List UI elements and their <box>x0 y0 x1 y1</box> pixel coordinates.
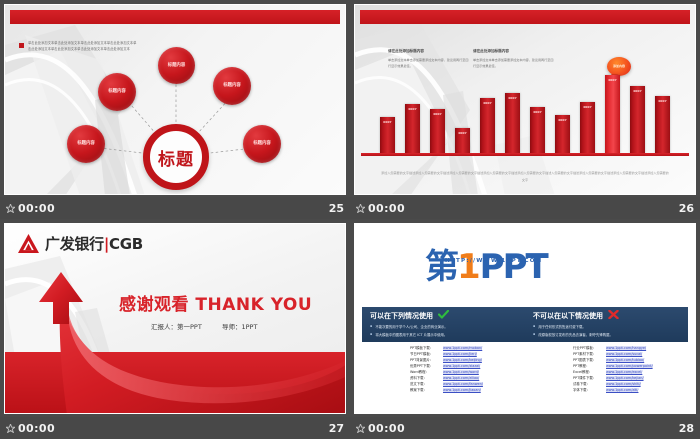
usage-terms-band: 可以在下列情况使用 ▪ 不能次要的用于学个人/公司、企业的商业演示。 ▪ <box>362 307 688 342</box>
forbidden-item-2: ▪ 改原版权放订发布的先品去演者，剥夺先锋购屋。 <box>533 332 680 337</box>
bar-7-label: 0007 <box>533 110 541 114</box>
thank-you-en: THANK YOU <box>195 295 312 315</box>
callout-bubble-label: 添加内容 <box>613 65 625 68</box>
node-lower-left[interactable]: 标题内容 <box>67 125 105 163</box>
slide-thumbnail-grid: 单击此处添加文本单击此处添加文本单击此处添加文本单击此处添加文本单击此处添加文本… <box>0 0 700 439</box>
bar-9: 0007 <box>580 102 596 154</box>
bar-3: 0007 <box>430 109 446 154</box>
link-label-right-5: Excel教程： <box>573 369 603 374</box>
timer-text-27: 00:00 <box>18 422 55 435</box>
forbidden-title-row: 不可以在以下情况使用 <box>533 310 680 321</box>
column-2-body: 单击添加文本单击添加需要添加文本内容，建议用两行至四行显示效果最佳。 <box>473 57 555 70</box>
cross-icon <box>608 310 619 321</box>
list-marker-icon: ▪ <box>533 324 535 329</box>
link-url-right-8[interactable]: www.1ppt.com/ziti/ <box>606 388 638 392</box>
bar-4: 0007 <box>455 128 471 154</box>
bar-11: 0007 <box>630 86 646 154</box>
bar-2: 0007 <box>405 104 421 154</box>
footer-left-25: 00:00 <box>6 202 55 215</box>
timer-icon <box>356 424 365 433</box>
slide-28[interactable]: 第1PPT HTTP://WWW.1PPT.COM 可以在下列情况使用 ▪ <box>354 223 696 414</box>
timer-text-28: 00:00 <box>368 422 405 435</box>
allowed-item-2-text: 将大模板中的图表用于其它 ICT 片展示中使用。 <box>375 332 447 337</box>
link-row-left-5[interactable]: Word教程：www.1ppt.com/word/ <box>410 369 525 374</box>
link-row-left-4[interactable]: 优秀PPT下载：www.1ppt.com/xiazai/ <box>410 363 525 368</box>
footer-left-27: 00:00 <box>6 422 55 435</box>
link-row-left-1[interactable]: PPT模板下载：www.1ppt.com/moban/ <box>410 345 525 350</box>
link-row-left-7[interactable]: 范文下载：www.1ppt.com/fanwen/ <box>410 381 525 386</box>
footer-left-26: 00:00 <box>356 202 405 215</box>
link-label-right-4: PPT教程： <box>573 363 603 368</box>
column-1-heading: 请在此处添加标题内容 <box>388 49 470 54</box>
bar-5: 0007 <box>480 98 496 154</box>
slide-cell-26[interactable]: 请在此处添加标题内容 单击添加文本单击添加需要添加文本内容，建议用两行至四行显示… <box>350 0 700 219</box>
bank-name-cn: 广发银行 <box>45 235 104 253</box>
link-row-right-1[interactable]: 行业PPT模板：www.1ppt.com/hangye/ <box>573 345 688 350</box>
bar-1-label: 0007 <box>383 120 391 124</box>
page-number-27: 27 <box>329 422 344 435</box>
text-column-1: 请在此处添加标题内容 单击添加文本单击添加需要添加文本内容，建议用两行至四行显示… <box>388 49 470 70</box>
link-row-left-3[interactable]: PPT背景图片：www.1ppt.com/beijing/ <box>410 357 525 362</box>
resource-links: PPT模板下载：www.1ppt.com/moban/节日PPT模板：www.1… <box>362 345 688 392</box>
chart-baseline <box>361 153 689 156</box>
timer-icon <box>6 204 15 213</box>
center-node[interactable]: 标题 <box>143 124 209 190</box>
timer-icon <box>6 424 15 433</box>
link-label-left-4: 优秀PPT下载： <box>410 363 440 368</box>
bar-7: 0007 <box>530 107 546 154</box>
allowed-title-row: 可以在下列情况使用 <box>370 310 517 321</box>
list-marker-icon: ▪ <box>533 332 535 337</box>
link-label-left-1: PPT模板下载： <box>410 345 440 350</box>
node-upper-left[interactable]: 标题内容 <box>98 73 136 111</box>
chart-caption: 添加入您需要的文字描述添加入您需要的文字描述添加入您需要的文字描述添加入您需要的… <box>381 170 669 184</box>
link-row-left-6[interactable]: 资料下载：www.1ppt.com/ziliao/ <box>410 375 525 380</box>
node-upper-left-label: 标题内容 <box>108 89 126 94</box>
link-label-right-7: 试卷下载： <box>573 381 603 386</box>
bar-2-label: 0007 <box>408 107 416 111</box>
link-label-left-8: 教案下载： <box>410 387 440 392</box>
logo-char-one: 1 <box>457 247 480 287</box>
link-label-left-2: 节日PPT模板： <box>410 351 440 356</box>
link-row-left-8[interactable]: 教案下载：www.1ppt.com/jiaoan/ <box>410 387 525 392</box>
link-row-right-3[interactable]: PPT图表下载：www.1ppt.com/tubiao/ <box>573 357 688 362</box>
node-lower-right-label: 标题内容 <box>253 141 271 146</box>
resource-links-right: 行业PPT模板：www.1ppt.com/hangye/PPT素材下载：www.… <box>525 345 688 392</box>
forbidden-item-1-text: 用于任何形式的售途付费下载。 <box>538 324 585 329</box>
bar-chart-plot-area: 0007000700070007000700070007000700070007… <box>375 77 675 154</box>
bar-chart: 0007000700070007000700070007000700070007… <box>365 77 685 154</box>
bank-name-en: CGB <box>109 235 143 253</box>
link-url-right-1[interactable]: www.1ppt.com/hangye/ <box>606 346 646 350</box>
thank-you-heading: 感谢观看 THANK YOU <box>119 290 312 315</box>
allowed-title: 可以在下列情况使用 <box>370 311 433 321</box>
slide-26[interactable]: 请在此处添加标题内容 单击添加文本单击添加需要添加文本内容，建议用两行至四行显示… <box>354 4 696 195</box>
link-row-right-7[interactable]: 试卷下载：www.1ppt.com/shiti/ <box>573 381 688 386</box>
forbidden-item-1: ▪ 用于任何形式的售途付费下载。 <box>533 324 680 329</box>
bar-8: 0007 <box>555 115 571 154</box>
forbidden-title: 不可以在以下情况使用 <box>533 311 603 321</box>
slide-footer-27: 00:00 27 <box>0 417 350 439</box>
link-row-right-8[interactable]: 字体下载：www.1ppt.com/ziti/ <box>573 387 688 392</box>
check-icon <box>438 310 449 321</box>
link-url-right-5[interactable]: www.1ppt.com/excel/ <box>606 370 642 374</box>
bar-11-label: 0007 <box>633 89 641 93</box>
slide-footer-28: 00:00 28 <box>350 417 700 439</box>
bar-1: 0007 <box>380 117 396 154</box>
page-number-26: 26 <box>679 202 694 215</box>
link-url-left-1[interactable]: www.1ppt.com/moban/ <box>443 346 482 350</box>
slide-cell-27[interactable]: 广发银行|CGB 感谢观看 THANK YOU 汇报人：第一PPT 导师：1PP… <box>0 219 350 439</box>
node-upper-right[interactable]: 标题内容 <box>213 67 251 105</box>
bank-triangle-icon <box>17 233 40 254</box>
bar-10: 0007 <box>605 75 621 154</box>
list-marker-icon: ▪ <box>370 332 372 337</box>
link-label-right-6: PPT课件下载： <box>573 375 603 380</box>
link-url-right-6[interactable]: www.1ppt.com/kejian/ <box>606 376 644 380</box>
bar-10-label: 0007 <box>608 78 616 82</box>
slide-25[interactable]: 单击此处添加文本单击此处添加文本单击此处添加文本单击此处添加文本单击此处添加文本… <box>4 4 346 195</box>
node-lower-right[interactable]: 标题内容 <box>243 125 281 163</box>
link-url-left-2[interactable]: www.1ppt.com/jieri/ <box>443 352 477 356</box>
allowed-item-1-text: 不能次要的用于学个人/公司、企业的商业演示。 <box>375 324 447 329</box>
link-label-right-2: PPT素材下载： <box>573 351 603 356</box>
allowed-item-2: ▪ 将大模板中的图表用于其它 ICT 片展示中使用。 <box>370 332 517 337</box>
link-url-right-7[interactable]: www.1ppt.com/shiti/ <box>606 382 641 386</box>
first-ppt-logo: 第1PPT <box>425 250 625 290</box>
bank-logo: 广发银行|CGB <box>17 233 143 254</box>
column-2-heading: 请在此处添加标题内容 <box>473 49 555 54</box>
list-marker-icon: ▪ <box>370 324 372 329</box>
slide-cell-28[interactable]: 第1PPT HTTP://WWW.1PPT.COM 可以在下列情况使用 ▪ <box>350 219 700 439</box>
allowed-item-1: ▪ 不能次要的用于学个人/公司、企业的商业演示。 <box>370 324 517 329</box>
link-url-right-3[interactable]: www.1ppt.com/tubiao/ <box>606 358 644 362</box>
link-url-right-2[interactable]: www.1ppt.com/sucai/ <box>606 352 642 356</box>
forbidden-item-2-text: 改原版权放订发布的先品去演者，剥夺先锋购屋。 <box>538 332 613 337</box>
slide-footer-25: 00:00 25 <box>0 197 350 219</box>
link-url-left-5[interactable]: www.1ppt.com/word/ <box>443 370 479 374</box>
timer-text-25: 00:00 <box>18 202 55 215</box>
link-label-left-5: Word教程： <box>410 369 440 374</box>
link-row-right-4[interactable]: PPT教程：www.1ppt.com/powerpoint/ <box>573 363 688 368</box>
bar-6: 0007 <box>505 93 521 154</box>
callout-bubble[interactable]: 添加内容 <box>607 57 631 76</box>
link-row-right-6[interactable]: PPT课件下载：www.1ppt.com/kejian/ <box>573 375 688 380</box>
allowed-column: 可以在下列情况使用 ▪ 不能次要的用于学个人/公司、企业的商业演示。 ▪ <box>362 307 525 342</box>
slide-header-bar-26 <box>360 10 690 24</box>
bar-5-label: 0007 <box>483 101 491 105</box>
node-lower-left-label: 标题内容 <box>77 141 95 146</box>
link-url-left-6[interactable]: www.1ppt.com/ziliao/ <box>443 376 479 380</box>
node-upper-right-label: 标题内容 <box>223 83 241 88</box>
bank-name: 广发银行|CGB <box>45 233 143 254</box>
text-column-2: 请在此处添加标题内容 单击添加文本单击添加需要添加文本内容，建议用两行至四行显示… <box>473 49 555 70</box>
link-label-left-6: 资料下载： <box>410 375 440 380</box>
link-label-right-1: 行业PPT模板： <box>573 345 603 350</box>
timer-icon <box>356 204 365 213</box>
mentor-name: 导师：1PPT <box>222 323 257 331</box>
presenter-name: 汇报人：第一PPT <box>151 323 202 331</box>
link-row-right-2[interactable]: PPT素材下载：www.1ppt.com/sucai/ <box>573 351 688 356</box>
column-1-body: 单击添加文本单击添加需要添加文本内容，建议用两行至四行显示效果最佳。 <box>388 57 470 70</box>
thank-you-cn: 感谢观看 <box>119 295 189 315</box>
bar-8-label: 0007 <box>558 118 566 122</box>
link-row-right-5[interactable]: Excel教程：www.1ppt.com/excel/ <box>573 369 688 374</box>
link-label-left-7: 范文下载： <box>410 381 440 386</box>
logo-char-ppt: PPT <box>480 247 547 287</box>
node-top-label: 标题内容 <box>168 63 186 68</box>
bar-12: 0007 <box>655 96 671 154</box>
center-node-label: 标题 <box>158 145 194 170</box>
timer-text-26: 00:00 <box>368 202 405 215</box>
link-row-left-2[interactable]: 节日PPT模板：www.1ppt.com/jieri/ <box>410 351 525 356</box>
bar-4-label: 0007 <box>458 131 466 135</box>
resource-links-left: PPT模板下载：www.1ppt.com/moban/节日PPT模板：www.1… <box>362 345 525 392</box>
bar-12-label: 0007 <box>658 99 666 103</box>
logo-url-text: HTTP://WWW.1PPT.COM <box>445 258 542 264</box>
link-url-right-4[interactable]: www.1ppt.com/powerpoint/ <box>606 364 653 368</box>
bar-3-label: 0007 <box>433 112 441 116</box>
logo-char-di: 第 <box>425 247 457 287</box>
page-number-28: 28 <box>679 422 694 435</box>
slide-footer-26: 00:00 26 <box>350 197 700 219</box>
node-top[interactable]: 标题内容 <box>158 47 195 84</box>
slide-27[interactable]: 广发银行|CGB 感谢观看 THANK YOU 汇报人：第一PPT 导师：1PP… <box>4 223 346 414</box>
bar-9-label: 0007 <box>583 105 591 109</box>
link-label-right-3: PPT图表下载： <box>573 357 603 362</box>
slide-cell-25[interactable]: 单击此处添加文本单击此处添加文本单击此处添加文本单击此处添加文本单击此处添加文本… <box>0 0 350 219</box>
presenter-line: 汇报人：第一PPT 导师：1PPT <box>151 321 257 331</box>
link-label-right-8: 字体下载： <box>573 387 603 392</box>
link-url-left-3[interactable]: www.1ppt.com/beijing/ <box>443 358 482 362</box>
link-url-left-8[interactable]: www.1ppt.com/jiaoan/ <box>443 388 481 392</box>
footer-left-28: 00:00 <box>356 422 405 435</box>
link-label-left-3: PPT背景图片： <box>410 357 440 362</box>
link-url-left-4[interactable]: www.1ppt.com/xiazai/ <box>443 364 480 368</box>
bar-6-label: 0007 <box>508 96 516 100</box>
link-url-left-7[interactable]: www.1ppt.com/fanwen/ <box>443 382 483 386</box>
forbidden-column: 不可以在以下情况使用 ▪ 用于任何形式的售途付费下载。 ▪ 改原版权放 <box>525 307 688 342</box>
page-number-25: 25 <box>329 202 344 215</box>
